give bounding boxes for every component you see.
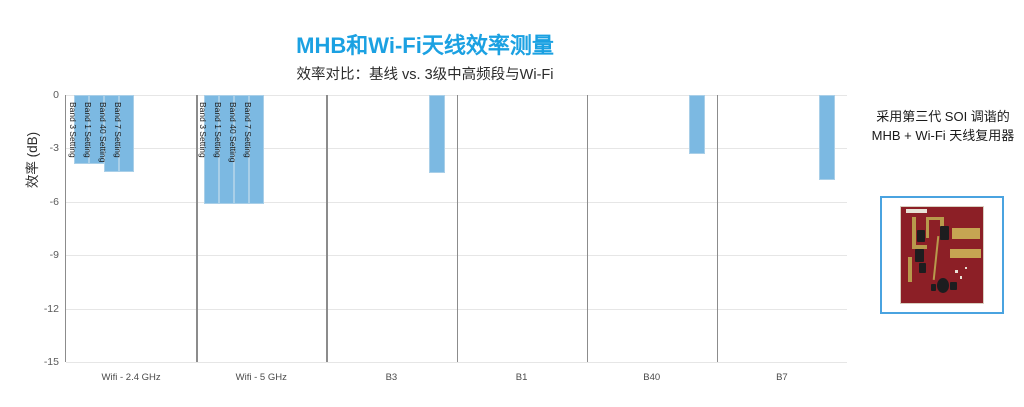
pcb-silkscreen	[960, 276, 962, 279]
chart-title: MHB和Wi-Fi天线效率测量	[0, 28, 850, 60]
pcb-component	[940, 226, 950, 239]
y-axis-tick-label: -12	[44, 303, 59, 315]
panel-caption: 采用第三代 SOI 调谐的 MHB + Wi-Fi 天线复用器	[862, 108, 1024, 146]
pcb-trace	[933, 236, 940, 280]
bar: Band 1 Setting	[89, 95, 104, 164]
bar: Band 3 Setting	[74, 95, 89, 164]
pcb-photo	[900, 206, 984, 304]
pcb-trace	[912, 217, 915, 250]
plot-area: 0-3-6-9-12-15Wifi - 2.4 GHzBand 3 Settin…	[65, 95, 847, 362]
pcb-component	[931, 284, 937, 291]
pcb-silkscreen	[906, 209, 927, 213]
pcb-silkscreen	[965, 267, 967, 270]
y-axis-tick-label: -15	[44, 356, 59, 368]
chart-subtitle: 效率对比：基线 vs. 3级中高频段与Wi-Fi	[0, 63, 850, 84]
pcb-component	[917, 230, 924, 242]
y-axis-tick-label: 0	[53, 89, 59, 101]
y-axis-title: 效率 (dB)	[21, 95, 41, 225]
bar	[689, 95, 705, 154]
pcb-pad	[950, 249, 981, 258]
bar: Band 1 Setting	[219, 95, 234, 204]
bar	[429, 95, 445, 173]
pcb-component	[915, 249, 924, 261]
pcb-trace	[908, 257, 913, 282]
category-separator	[587, 95, 589, 362]
y-axis-tick-label: -3	[50, 142, 59, 154]
category-separator	[457, 95, 459, 362]
bar: Band 40 Setting	[234, 95, 249, 204]
x-axis-tick-label: B40	[643, 372, 660, 383]
bar	[819, 95, 835, 180]
side-panel: 采用第三代 SOI 调谐的 MHB + Wi-Fi 天线复用器	[862, 0, 1024, 407]
category-separator	[717, 95, 719, 362]
bar-label: Band 3 Setting	[198, 102, 208, 158]
chart-container: MHB和Wi-Fi天线效率测量 效率对比：基线 vs. 3级中高频段与Wi-Fi…	[0, 0, 860, 407]
pcb-pad	[952, 228, 980, 239]
bar: Band 3 Setting	[204, 95, 219, 204]
x-axis-tick-label: B1	[516, 372, 528, 383]
category-separator	[326, 95, 328, 362]
bar: Band 40 Setting	[104, 95, 119, 172]
x-axis-tick-label: Wifi - 5 GHz	[236, 372, 287, 383]
x-axis-tick-label: B7	[776, 372, 788, 383]
panel-image-frame	[880, 196, 1004, 314]
x-axis-tick-label: B3	[386, 372, 398, 383]
category-separator	[196, 95, 198, 362]
y-axis-tick-label: -9	[50, 249, 59, 261]
y-axis-tick-label: -6	[50, 196, 59, 208]
pcb-component	[937, 278, 949, 293]
gridline	[66, 362, 847, 363]
bar: Band 7 Setting	[119, 95, 134, 172]
x-axis-tick-label: Wifi - 2.4 GHz	[102, 372, 161, 383]
pcb-component	[919, 263, 926, 274]
pcb-silkscreen	[955, 270, 957, 273]
bar: Band 7 Setting	[249, 95, 264, 204]
bar-label: Band 3 Setting	[68, 102, 78, 158]
pcb-component	[950, 282, 957, 290]
